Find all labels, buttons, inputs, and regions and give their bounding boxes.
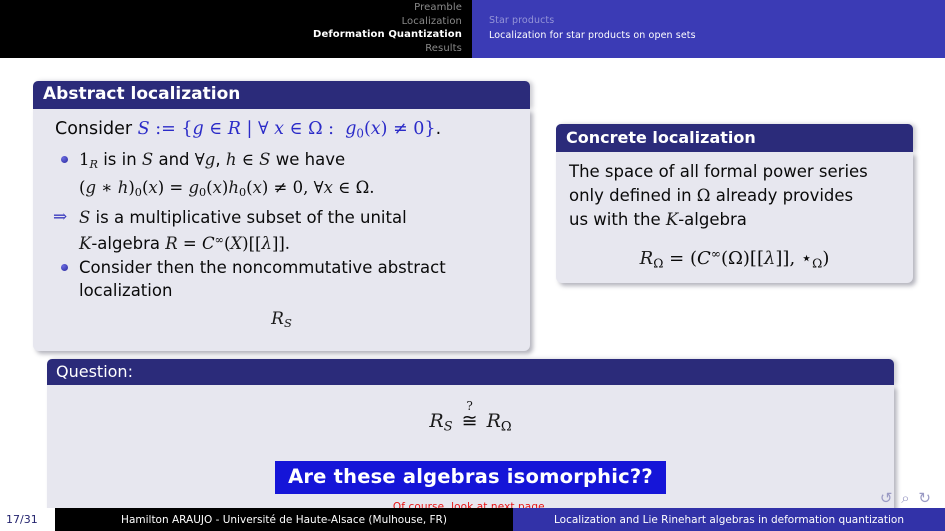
nav-subsection-localization-open-sets[interactable]: Localization for star products on open s… [489, 28, 696, 43]
abstract-localization-block: Abstract localization Consider S := {g ∈… [33, 81, 530, 351]
footer-presentation-title: Localization and Lie Rinehart algebras i… [513, 508, 945, 531]
abstract-localization-list: 1R is in S and ∀g, h ∈ S we have (g ∗ h)… [45, 148, 518, 302]
beamer-navigation-icons[interactable]: ↺ ⌕ ↻ [880, 489, 933, 507]
nav-section-preamble[interactable]: Preamble [313, 1, 462, 15]
concrete-display-math: RΩ = (C∞(Ω)[[λ]], ⋆Ω) [569, 247, 900, 271]
header-sections-area: Preamble Localization Deformation Quanti… [0, 0, 472, 58]
nav-subsection-star-products[interactable]: Star products [489, 13, 696, 28]
bullet-icon [61, 264, 68, 271]
isomorphic-question-highlight: Are these algebras isomorphic?? [275, 461, 666, 494]
concrete-localization-block: Concrete localization The space of all f… [556, 124, 913, 283]
list-item: Consider then the noncommutative abstrac… [45, 256, 518, 302]
header-subsections-area: Star products Localization for star prod… [472, 0, 945, 58]
consider-suffix: . [436, 119, 442, 139]
list-item: 1R is in S and ∀g, h ∈ S we have (g ∗ h)… [45, 148, 518, 204]
congruence-relation: ? ≅ [459, 408, 481, 434]
nav-section-deformation-quantization[interactable]: Deformation Quantization [313, 28, 462, 42]
section-nav-list: Preamble Localization Deformation Quanti… [313, 1, 462, 55]
question-body: RS ? ≅ RΩ Are these algebras isomorphic?… [47, 385, 894, 521]
list-item-line-2: K-algebra R = C∞(X)[[λ]]. [79, 234, 290, 253]
consider-prefix: Consider [55, 119, 132, 139]
nav-section-results[interactable]: Results [313, 42, 462, 56]
abstract-display-math: RS [45, 309, 518, 330]
list-item-line-2: localization [79, 281, 172, 300]
highlight-wrap: Are these algebras isomorphic?? [57, 441, 884, 494]
concrete-localization-body: The space of all formal power series onl… [556, 152, 913, 283]
list-item-line-1: S is a multiplicative subset of the unit… [79, 208, 407, 227]
concrete-text-line-1: The space of all formal power series [569, 160, 900, 184]
bullet-icon [61, 156, 68, 163]
slide-header: Preamble Localization Deformation Quanti… [0, 0, 945, 58]
subsection-nav-list: Star products Localization for star prod… [489, 13, 696, 43]
implies-arrow-icon: ⇒ [53, 206, 67, 229]
question-title: Question: [47, 359, 894, 385]
abstract-localization-body: Consider S := {g ∈ R | ∀ x ∈ Ω : g0(x) ≠… [33, 109, 530, 351]
footer-page-number: 17/31 [0, 508, 55, 531]
consider-set-definition: S [138, 119, 150, 139]
question-mark-superscript: ? [466, 393, 472, 419]
question-block: Question: RS ? ≅ RΩ Are these algebras i… [47, 359, 894, 521]
list-item: ⇒ S is a multiplicative subset of the un… [45, 206, 518, 256]
slide-footer: 17/31 Hamilton ARAUJO - Université de Ha… [0, 508, 945, 531]
consider-definition-line: Consider S := {g ∈ R | ∀ x ∈ Ω : g0(x) ≠… [55, 117, 518, 145]
concrete-text-line-3: us with the K-algebra [569, 208, 900, 232]
list-item-line-1: Consider then the noncommutative abstrac… [79, 258, 446, 277]
list-item-line-2: (g ∗ h)0(x) = g0(x)h0(x) ≠ 0, ∀x ∈ Ω. [79, 178, 375, 197]
concrete-text-line-2: only defined in Ω already provides [569, 184, 900, 208]
abstract-localization-title: Abstract localization [33, 81, 530, 109]
question-formula: RS ? ≅ RΩ [429, 408, 511, 441]
list-item-line-1: 1R is in S and ∀g, h ∈ S we have [79, 150, 345, 169]
footer-author: Hamilton ARAUJO - Université de Haute-Al… [55, 508, 513, 531]
concrete-localization-title: Concrete localization [556, 124, 913, 152]
nav-section-localization[interactable]: Localization [313, 15, 462, 29]
